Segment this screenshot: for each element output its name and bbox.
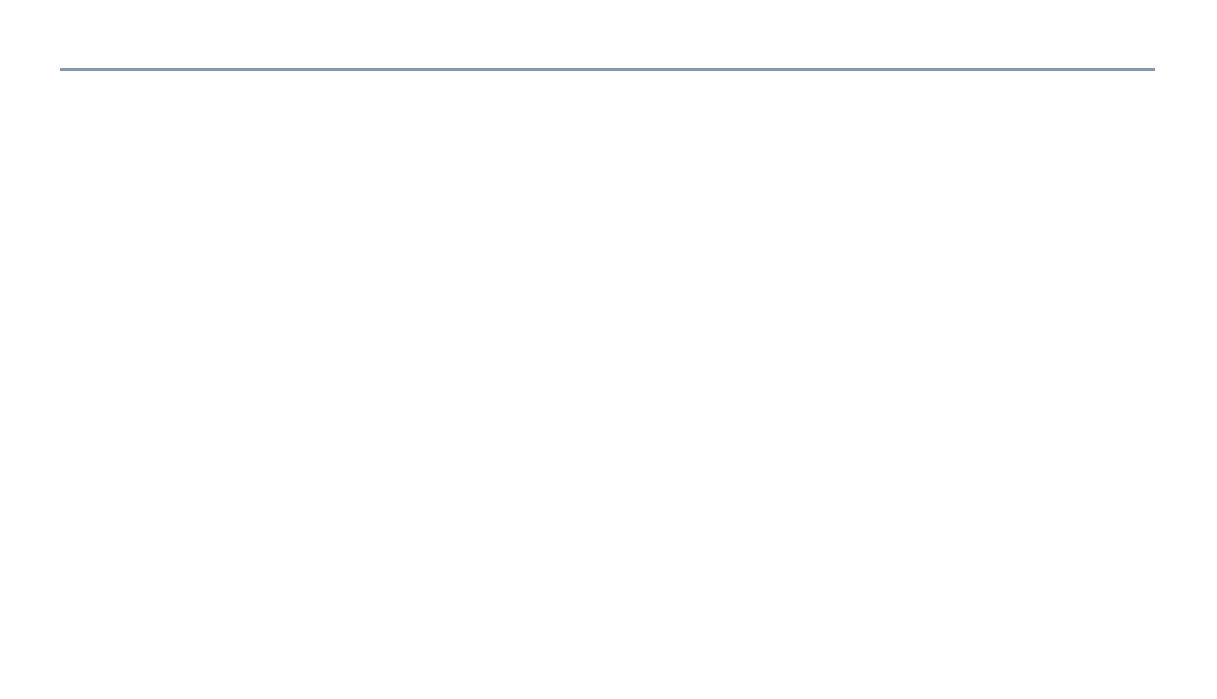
slide-header xyxy=(0,0,1217,78)
slide-root xyxy=(0,0,1217,699)
title-divider xyxy=(60,68,1155,71)
